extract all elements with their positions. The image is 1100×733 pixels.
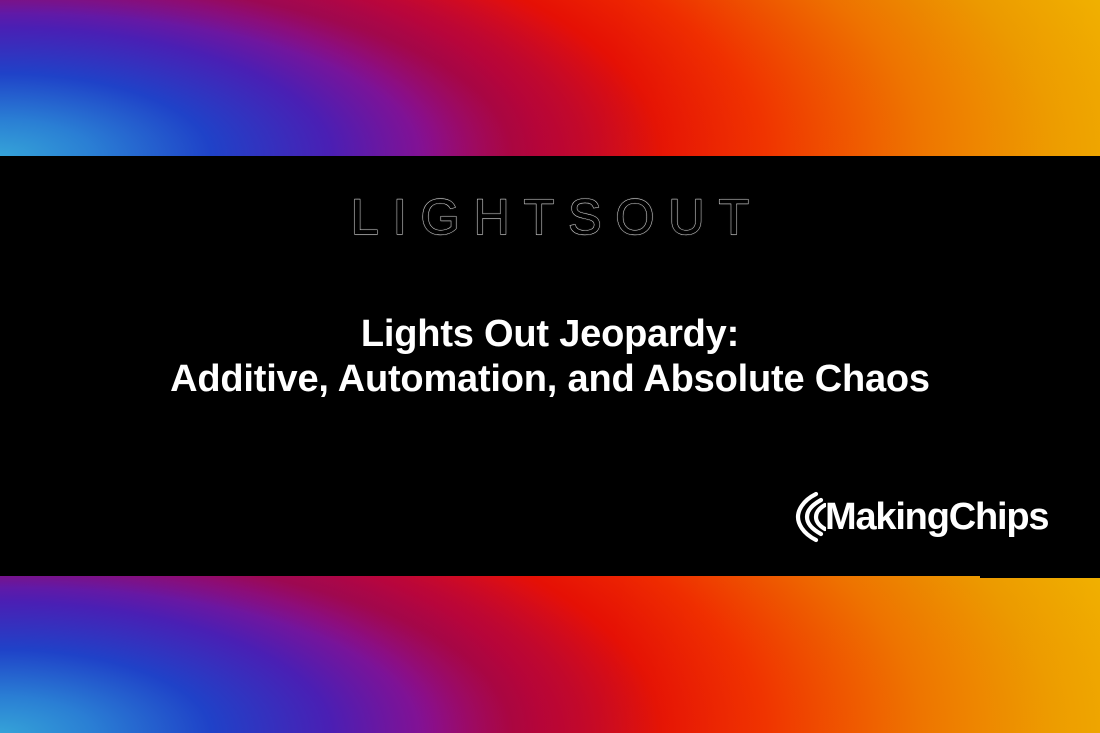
- bottom-gradient-band: [0, 576, 1100, 733]
- band-edge-seam: [980, 576, 1100, 578]
- episode-title-line-1: Lights Out Jeopardy:: [0, 312, 1100, 357]
- gradient-warm-layer: [0, 576, 1100, 733]
- lightsout-wordmark-inner: LIGHTSOUT: [0, 192, 1100, 242]
- gradient-warm-layer: [0, 0, 1100, 156]
- lightsout-wordmark: LIGHTSOUT LIGHTSOUT: [0, 192, 1100, 242]
- makingchips-logo: MakingChips: [786, 488, 986, 546]
- episode-title-line-2: Additive, Automation, and Absolute Chaos: [0, 357, 1100, 402]
- makingchips-wordmark: MakingChips: [825, 498, 1048, 536]
- episode-title: Lights Out Jeopardy: Additive, Automatio…: [0, 312, 1100, 402]
- top-gradient-band: [0, 0, 1100, 156]
- podcast-title-card: LIGHTSOUT LIGHTSOUT Lights Out Jeopardy:…: [0, 0, 1100, 733]
- sound-wave-arcs-icon: [786, 489, 826, 545]
